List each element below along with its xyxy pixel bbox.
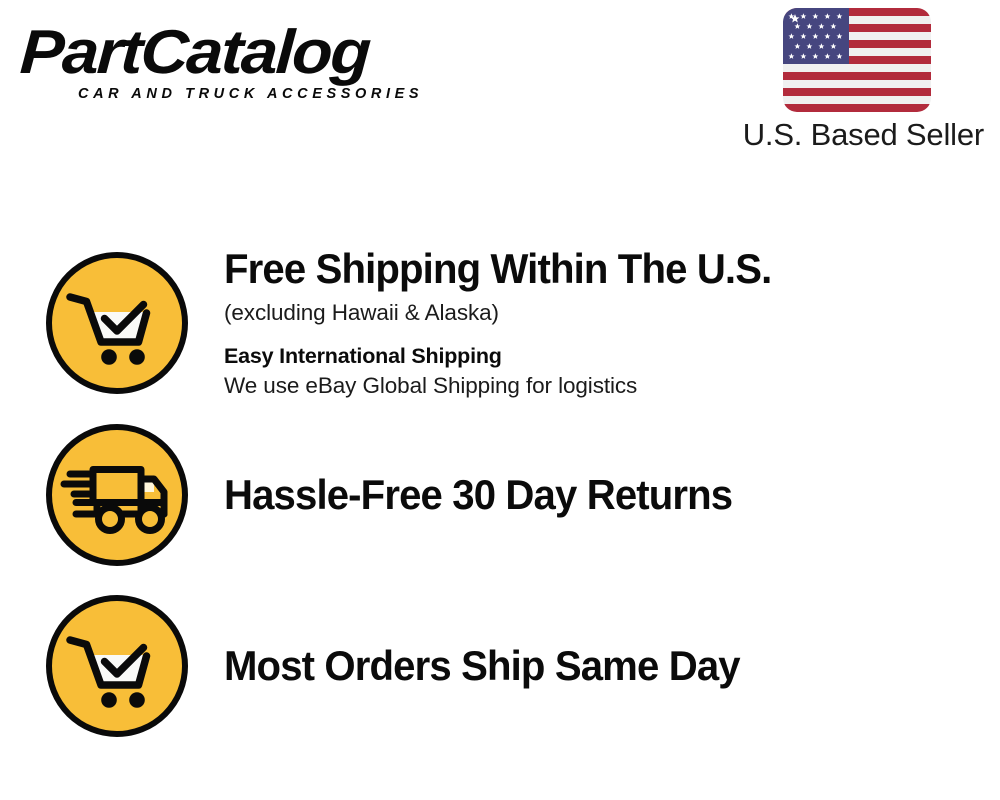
part-catalog-logo[interactable]: PartCatalog CAR AND TRUCK ACCESSORIES xyxy=(22,22,492,114)
brand-wordmark: PartCatalog xyxy=(19,22,525,84)
delivery-truck-icon xyxy=(44,422,190,568)
feature-title: Most Orders Ship Same Day xyxy=(224,642,946,690)
feature-subtitle-secondary: We use eBay Global Shipping for logistic… xyxy=(224,371,980,401)
feature-subtitle: (excluding Hawaii & Alaska) xyxy=(224,298,980,328)
page-header: PartCatalog CAR AND TRUCK ACCESSORIES xyxy=(0,0,1000,165)
feature-title: Free Shipping Within The U.S. xyxy=(224,245,946,293)
feature-text-block: Hassle-Free 30 Day Returns xyxy=(224,471,1000,519)
feature-row: Free Shipping Within The U.S. (excluding… xyxy=(0,250,1000,396)
us-flag-icon xyxy=(783,8,931,112)
feature-text-block: Free Shipping Within The U.S. (excluding… xyxy=(224,245,1000,401)
feature-row: Hassle-Free 30 Day Returns xyxy=(0,422,1000,568)
us-based-seller-badge: U.S. Based Seller xyxy=(722,8,992,152)
us-based-seller-label: U.S. Based Seller xyxy=(722,118,992,152)
shopping-cart-check-icon xyxy=(44,250,190,396)
feature-row: Most Orders Ship Same Day xyxy=(0,593,1000,739)
feature-subtitle-strong: Easy International Shipping xyxy=(224,342,980,370)
feature-title: Hassle-Free 30 Day Returns xyxy=(224,471,946,519)
brand-tagline: CAR AND TRUCK ACCESSORIES xyxy=(78,86,492,102)
shopping-cart-check-icon xyxy=(44,593,190,739)
feature-text-block: Most Orders Ship Same Day xyxy=(224,642,1000,690)
